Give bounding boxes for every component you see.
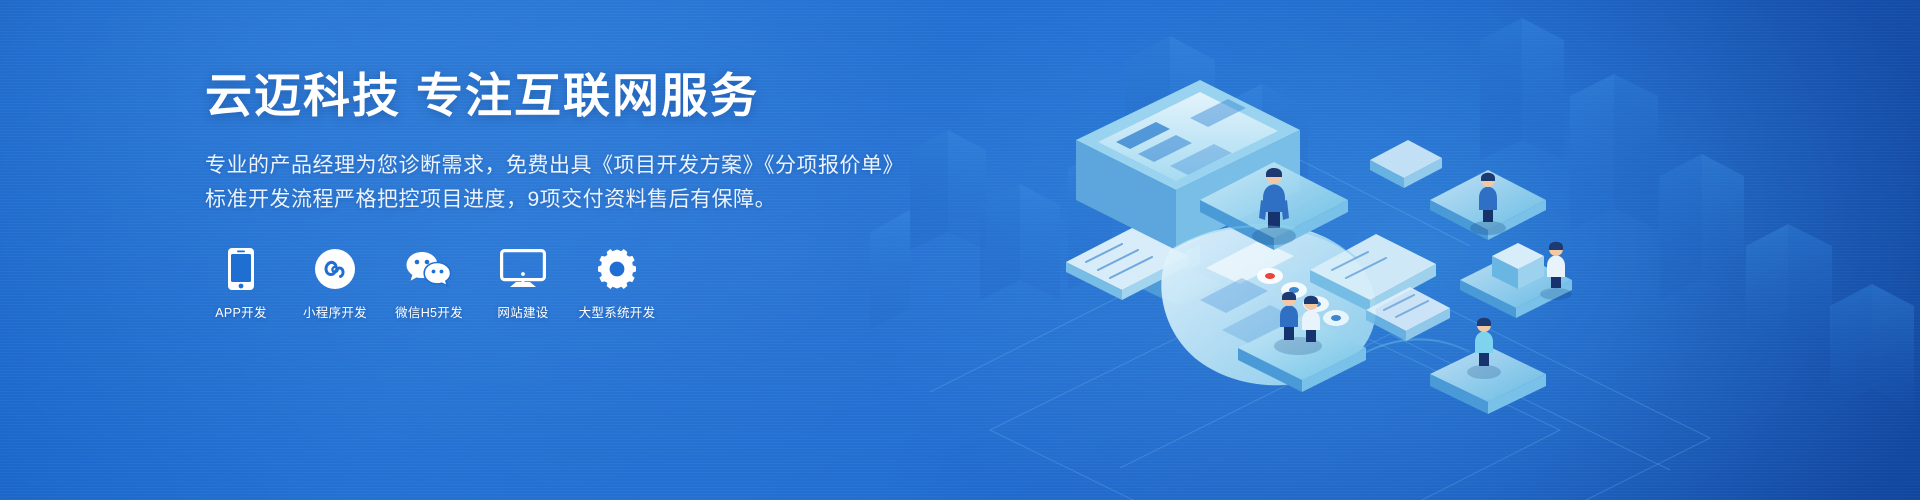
banner-subtitle-group: 专业的产品经理为您诊断需求，免费出具《项目开发方案》《分项报价单》 标准开发流程… bbox=[205, 149, 905, 217]
isometric-illustration bbox=[870, 0, 1920, 500]
banner-subtitle-line-1: 专业的产品经理为您诊断需求，免费出具《项目开发方案》《分项报价单》 bbox=[205, 149, 905, 183]
service-label-app: APP开发 bbox=[215, 302, 267, 321]
banner-headline: 云迈科技 专注互联网服务 bbox=[205, 68, 905, 123]
mini-program-icon bbox=[314, 247, 356, 291]
mobile-phone-icon bbox=[227, 247, 255, 291]
service-item-website[interactable]: 网站建设 bbox=[487, 247, 559, 321]
service-item-miniprogram[interactable]: 小程序开发 bbox=[299, 247, 371, 321]
service-item-system[interactable]: 大型系统开发 bbox=[581, 247, 653, 321]
service-item-wechat[interactable]: 微信H5开发 bbox=[393, 247, 465, 321]
service-label-system: 大型系统开发 bbox=[579, 302, 656, 321]
service-label-website: 网站建设 bbox=[497, 302, 548, 321]
service-item-app[interactable]: APP开发 bbox=[205, 247, 277, 321]
banner-content: 云迈科技 专注互联网服务 专业的产品经理为您诊断需求，免费出具《项目开发方案》《… bbox=[205, 68, 905, 321]
floating-chart-panel-top bbox=[1370, 140, 1442, 188]
background-buildings bbox=[870, 18, 1914, 410]
banner-subtitle-line-2: 标准开发流程严格把控项目进度，9项交付资料售后有保障。 bbox=[205, 183, 905, 217]
service-label-miniprogram: 小程序开发 bbox=[303, 302, 367, 321]
service-icon-row: APP开发 小程序开发 bbox=[205, 247, 905, 321]
service-label-wechat: 微信H5开发 bbox=[395, 302, 463, 321]
monitor-icon bbox=[500, 247, 546, 291]
person-lower-right bbox=[1467, 318, 1501, 379]
promo-banner: 云迈科技 专注互联网服务 专业的产品经理为您诊断需求，免费出具《项目开发方案》《… bbox=[0, 0, 1920, 500]
gear-icon bbox=[596, 247, 638, 291]
wechat-icon bbox=[405, 247, 453, 291]
